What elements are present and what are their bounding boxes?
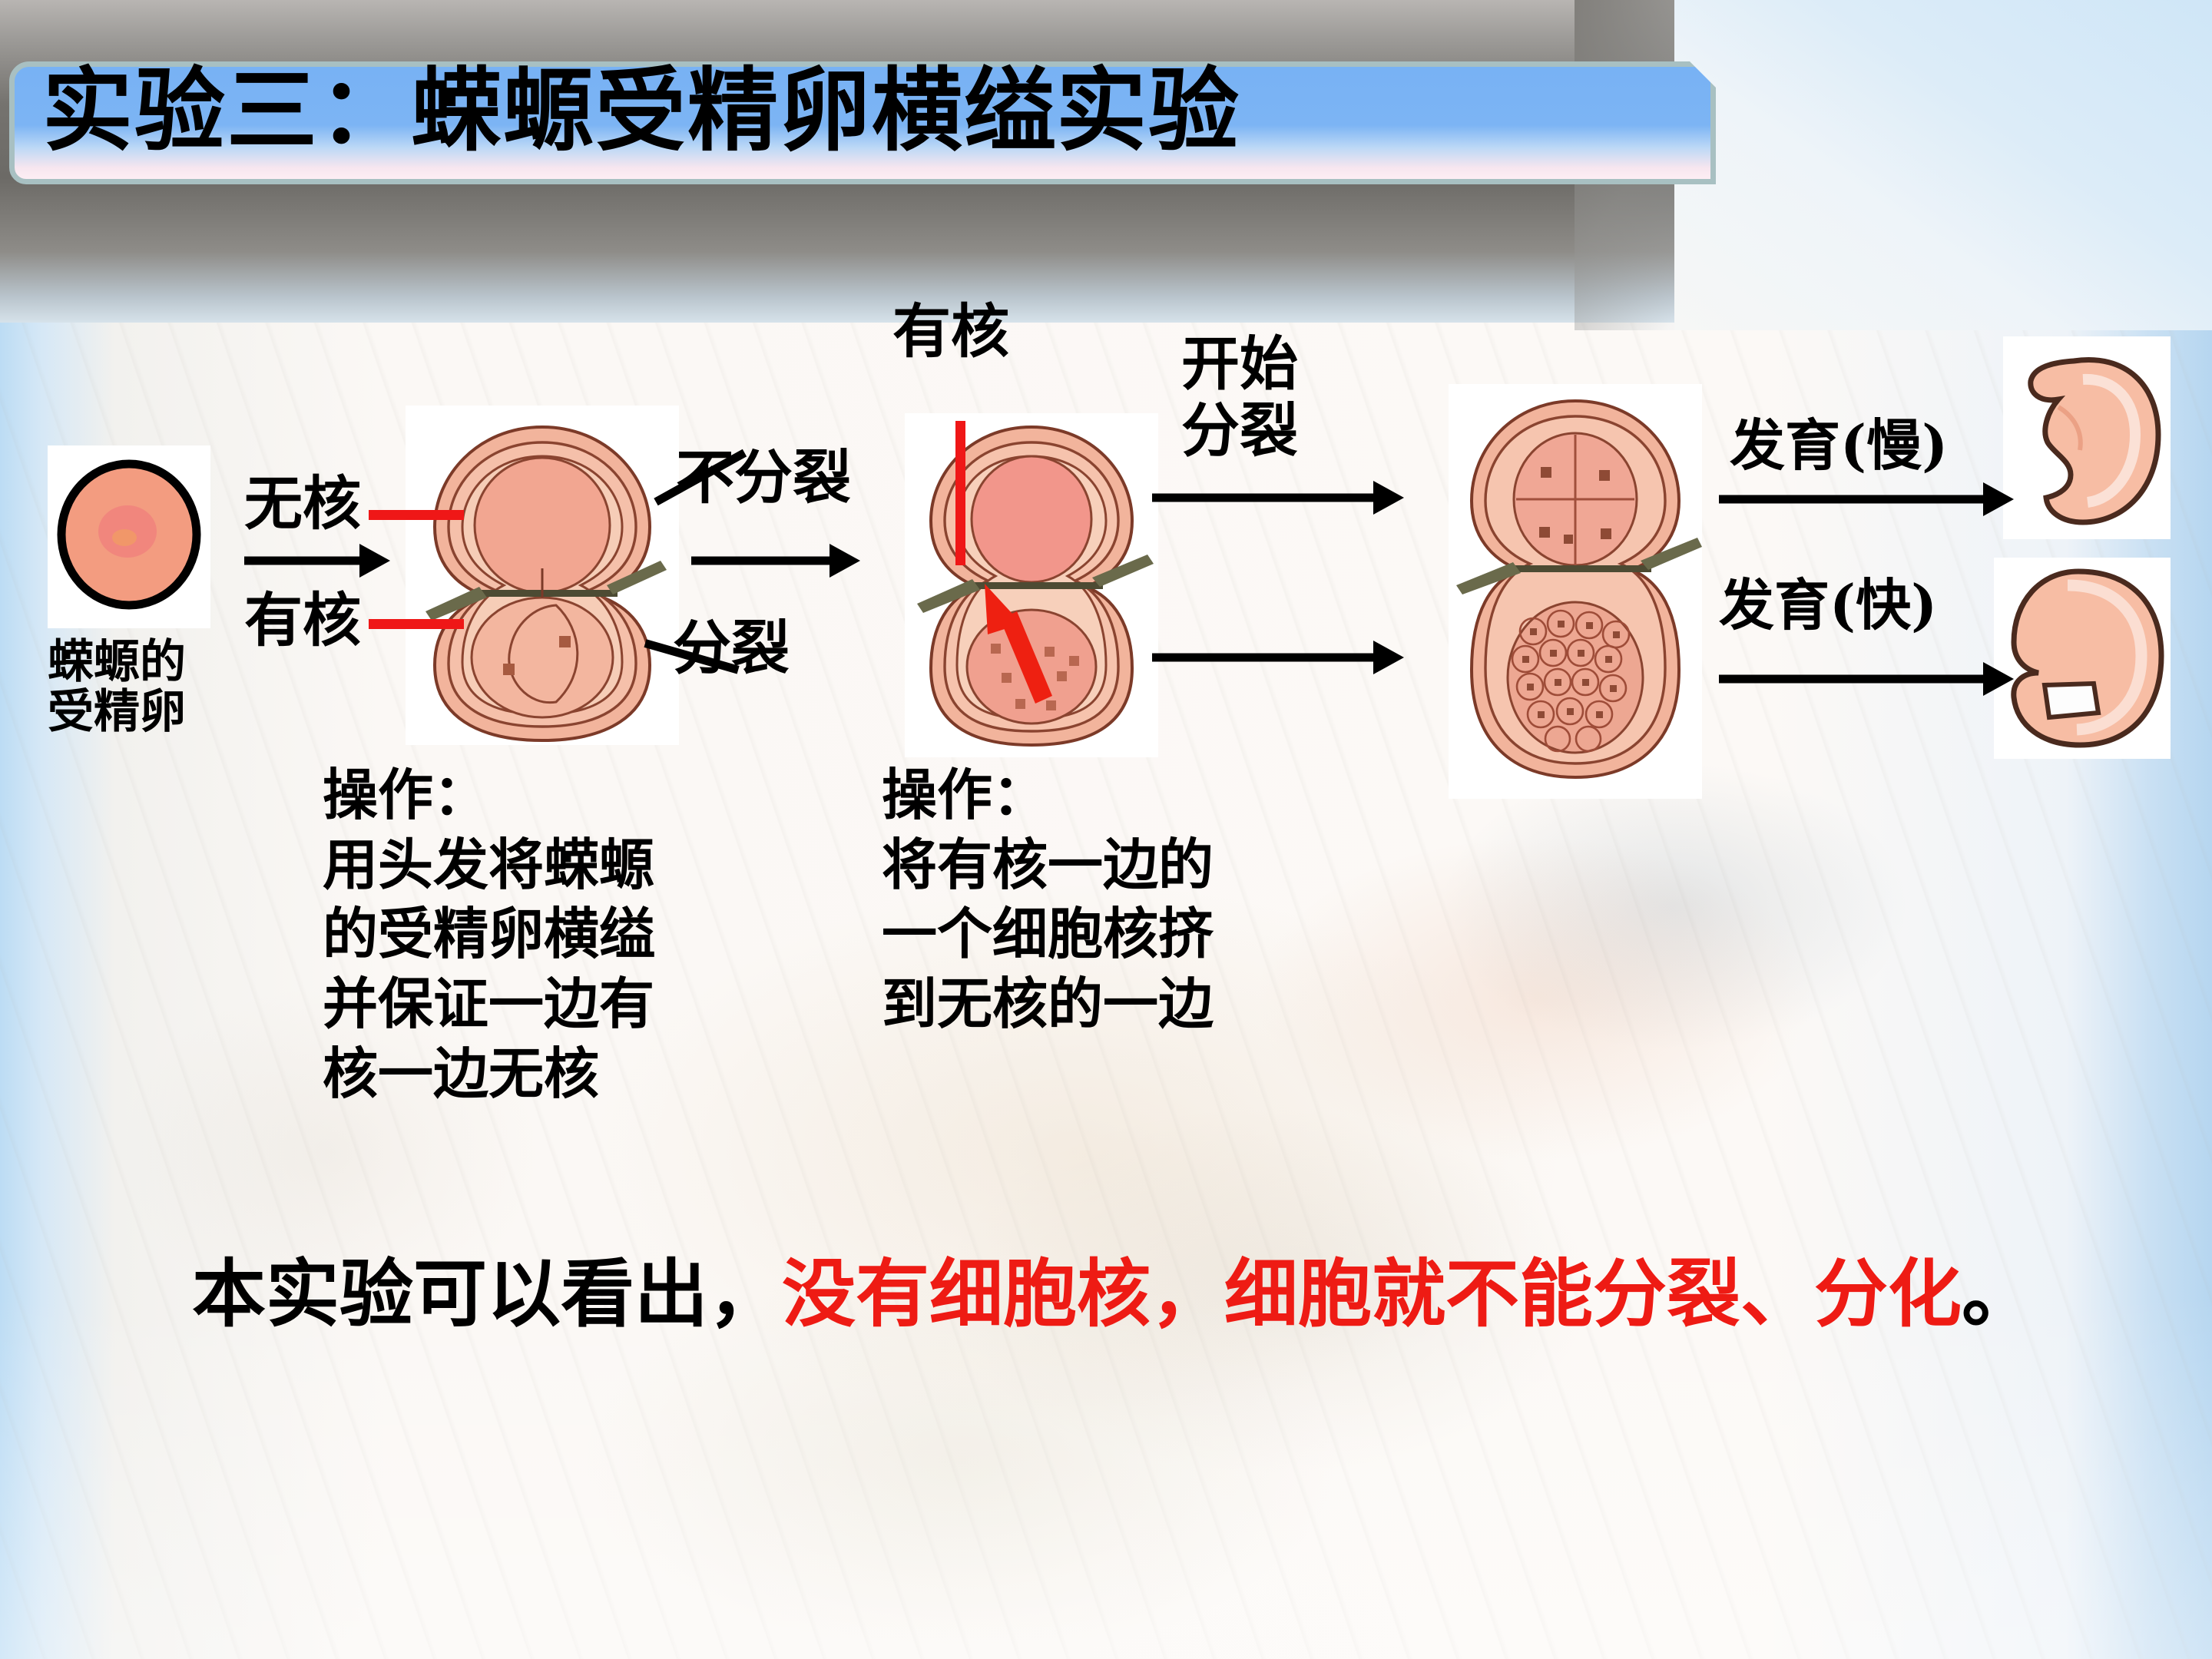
label-no-divide: 不分裂 (676, 449, 851, 507)
pointer-line-no-nucleus (369, 510, 464, 520)
page-title: 实验三：蝾螈受精卵横缢实验 (42, 65, 1240, 156)
red-transfer-arrow (945, 530, 1068, 707)
label-develop-slow: 发育(慢) (1730, 418, 1948, 473)
operation-left-block: 操作： 用头发将蝾螈 的受精卵横缢 并保证一边有 核一边无核 (323, 760, 654, 1109)
fertilized-egg-icon (48, 445, 210, 628)
conclusion-suffix: 。 (1962, 1250, 2035, 1337)
salamander-larva-fast-icon (1994, 558, 2171, 759)
label-begin-divide-line2: 分裂 (1181, 397, 1298, 464)
operation-left-line-1: 用头发将蝾螈 (323, 830, 654, 900)
egg-caption-line1: 蝾螈的 (48, 637, 255, 687)
operation-left-line-2: 的受精卵横缢 (323, 899, 654, 969)
operation-right-line-1: 将有核一边的 (882, 830, 1214, 900)
constricted-egg-icon (406, 406, 679, 745)
label-has-nucleus-left: 有核 (244, 591, 361, 650)
fertilized-egg-thumbnail (48, 445, 210, 628)
conclusion-text: 本实验可以看出，没有细胞核，细胞就不能分裂、分化。 (192, 1246, 2174, 1343)
operation-right-line-2: 一个细胞核挤 (882, 899, 1214, 969)
operation-right-line-3: 到无核的一边 (882, 969, 1214, 1039)
label-begin-divide-line1: 开始 (1181, 330, 1298, 397)
label-begin-divide: 开始 分裂 (1181, 330, 1298, 465)
operation-left-heading: 操作： (323, 760, 654, 830)
label-has-nucleus-top: 有核 (892, 303, 1009, 361)
conclusion-highlight: 没有细胞核，细胞就不能分裂、分化 (782, 1250, 1962, 1337)
conclusion-prefix: 本实验可以看出， (192, 1250, 782, 1337)
larva-slow-box (2003, 336, 2171, 539)
label-no-nucleus: 无核 (244, 475, 361, 533)
constricted-egg-stage3 (1449, 384, 1702, 799)
pointer-line-has-nucleus (369, 619, 464, 629)
title-banner: 实验三：蝾螈受精卵横缢实验 (9, 61, 1716, 184)
egg-caption: 蝾螈的 受精卵 (48, 637, 255, 737)
operation-left-line-4: 核一边无核 (323, 1039, 654, 1109)
operation-right-block: 操作： 将有核一边的 一个细胞核挤 到无核的一边 (882, 760, 1214, 1039)
cleavage-stage-icon (1449, 384, 1702, 799)
operation-left-line-3: 并保证一边有 (323, 969, 654, 1039)
label-develop-fast: 发育(快) (1719, 578, 1937, 633)
egg-caption-line2: 受精卵 (48, 687, 255, 737)
constricted-egg-stage1 (406, 406, 679, 745)
label-divide: 分裂 (673, 619, 790, 677)
operation-right-heading: 操作： (882, 760, 1214, 830)
larva-fast-box (1994, 558, 2171, 759)
salamander-larva-slow-icon (2003, 336, 2171, 539)
